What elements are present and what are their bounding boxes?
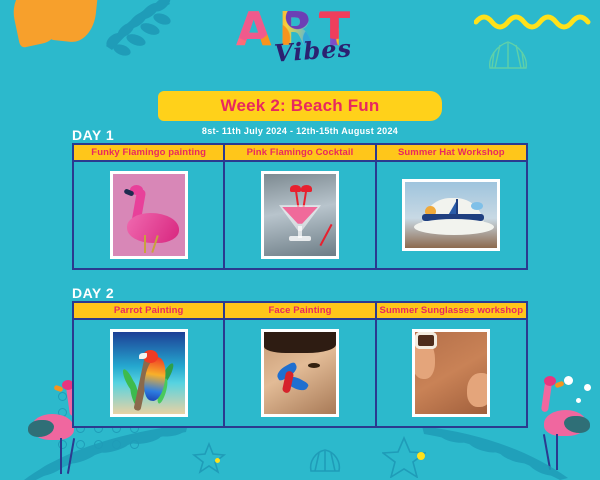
pink-cocktail-photo xyxy=(261,171,339,259)
activity-header-cell[interactable]: Summer Hat Workshop xyxy=(376,144,527,161)
activity-image-cell xyxy=(376,161,527,269)
dot-decoration xyxy=(584,384,591,391)
day-1-label: DAY 1 xyxy=(72,127,114,143)
painted-hat-photo xyxy=(402,179,500,251)
palm-frond-icon xyxy=(420,420,570,480)
parrot-painting-photo xyxy=(110,329,188,417)
dot-decoration xyxy=(215,458,220,463)
activity-header-cell[interactable]: Parrot Painting xyxy=(73,302,224,319)
day-2-schedule-table: Parrot Painting Face Painting Summer Sun… xyxy=(72,301,528,428)
day-1-schedule-table: Funky Flamingo painting Pink Flamingo Co… xyxy=(72,143,528,270)
activity-header-cell[interactable]: Face Painting xyxy=(224,302,375,319)
brand-logo: ART Vibes xyxy=(0,6,600,65)
week-banner: Week 2: Beach Fun xyxy=(158,91,442,121)
seashell-icon xyxy=(308,448,342,474)
activity-image-cell xyxy=(224,319,375,427)
decorated-sunglasses-photo xyxy=(412,329,490,417)
flamingo-painting-photo xyxy=(110,171,188,259)
dot-decoration xyxy=(417,452,425,460)
flamingo-decoration xyxy=(524,378,600,474)
activity-image-cell xyxy=(376,319,527,427)
table-header-row: Parrot Painting Face Painting Summer Sun… xyxy=(73,302,527,319)
poster-canvas: ART Vibes Week 2: Beach Fun 8st- 11th Ju… xyxy=(0,0,600,480)
starfish-icon xyxy=(192,442,226,474)
activity-header-cell[interactable]: Funky Flamingo painting xyxy=(73,144,224,161)
activity-header-cell[interactable]: Summer Sunglasses workshop xyxy=(376,302,527,319)
starfish-icon xyxy=(382,436,426,478)
activity-header-cell[interactable]: Pink Flamingo Cocktail xyxy=(224,144,375,161)
activity-image-cell xyxy=(73,319,224,427)
table-row xyxy=(73,319,527,427)
activity-image-cell xyxy=(73,161,224,269)
dot-decoration xyxy=(576,398,581,403)
dot-decoration xyxy=(564,376,573,385)
activity-image-cell xyxy=(224,161,375,269)
table-row xyxy=(73,161,527,269)
table-header-row: Funky Flamingo painting Pink Flamingo Co… xyxy=(73,144,527,161)
week-banner-title: Week 2: Beach Fun xyxy=(221,96,380,116)
face-painting-photo xyxy=(261,329,339,417)
day-2-label: DAY 2 xyxy=(72,285,114,301)
